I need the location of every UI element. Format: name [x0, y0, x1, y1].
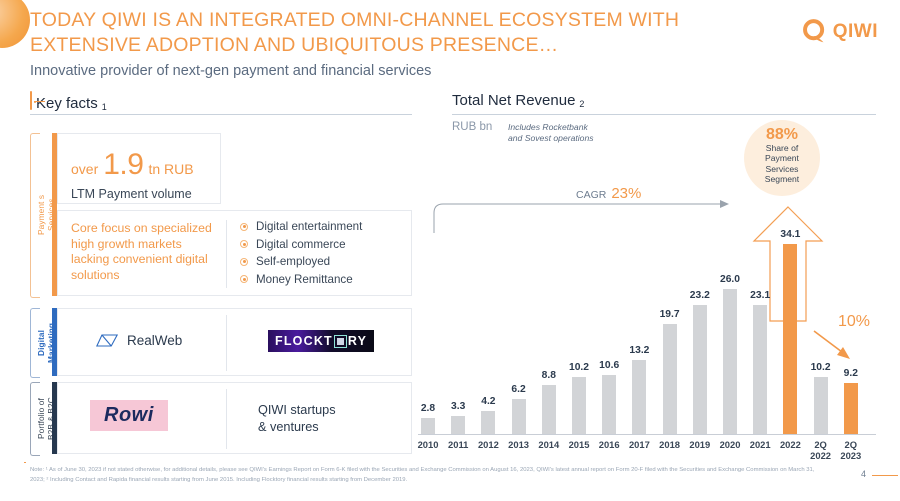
revenue-title: Total Net Revenue [452, 92, 575, 109]
bullet-label: Digital commerce [256, 238, 346, 251]
chart-note-line1: Includes Rocketbank [508, 122, 628, 133]
x-axis-tick-label: 2021 [744, 439, 776, 450]
bar-value-label: 2.8 [413, 403, 443, 414]
stat-unit: tn RUB [148, 161, 193, 177]
bullet-dot-icon [240, 240, 248, 248]
bar-value-label: 23.2 [685, 290, 715, 301]
share-caption: Share of Payment Services Segment [765, 143, 799, 184]
page-subtitle: Innovative provider of next-gen payment … [30, 63, 730, 79]
x-axis-tick-label: 2014 [533, 439, 565, 450]
bar-2017 [632, 360, 646, 434]
flocktory-label-pre: FLOCKT [275, 334, 333, 348]
revenue-rule [452, 114, 876, 115]
list-item: Self-employed [240, 255, 362, 268]
page-title: TODAY QIWI IS AN INTEGRATED OMNI-CHANNEL… [30, 8, 775, 58]
chart-note-line2: and Sovest operations [508, 133, 628, 144]
portfolio-divider [226, 389, 227, 449]
x-axis-tick-label: 2013 [503, 439, 535, 450]
core-focus-divider [226, 220, 227, 288]
chart-note: Includes Rocketbank and Sovest operation… [508, 122, 628, 143]
bar-2Q-2023 [844, 383, 858, 434]
bar-2021 [753, 305, 767, 434]
core-focus-panel: Core focus on specialized high growth ma… [57, 210, 412, 296]
bar-value-label: 26.0 [715, 274, 745, 285]
bar-value-label: 8.8 [534, 370, 564, 381]
realweb-mark-icon [96, 333, 118, 348]
chart-units-label: RUB bn [452, 121, 492, 133]
bar-2011 [451, 416, 465, 434]
bar-2020 [723, 289, 737, 434]
cagr-label: CAGR [576, 189, 606, 201]
bar-2016 [602, 375, 616, 434]
x-axis-tick-label: 2017 [623, 439, 655, 450]
share-percent: 88% [766, 126, 798, 143]
cagr-annotation: CAGR 23% [576, 185, 641, 202]
bar-value-label: 13.2 [624, 345, 654, 356]
page-number-rule [872, 475, 898, 476]
flocktory-label-post: RY [348, 334, 367, 348]
card-icon [30, 92, 32, 110]
bar-2Q-2022 [814, 377, 828, 434]
x-axis-tick-label: 2022 [774, 439, 806, 450]
marketing-divider [226, 315, 227, 371]
qiwi-ventures-line1: QIWI startups [258, 402, 336, 419]
bullet-dot-icon [240, 223, 248, 231]
key-facts-footnote-marker: 1 [102, 102, 107, 112]
bar-value-label: 34.1 [775, 229, 805, 240]
x-axis-tick-label: 2019 [684, 439, 716, 450]
bar-value-label: 4.2 [473, 396, 503, 407]
flocktory-o-icon [334, 335, 347, 348]
key-facts-rule [30, 114, 412, 115]
x-axis-tick-label: 2012 [472, 439, 504, 450]
bullet-dot-icon [240, 275, 248, 283]
x-axis-tick-label: 2020 [714, 439, 746, 450]
key-facts-header: Key facts 1 [30, 92, 107, 112]
x-axis-tick-label: 2011 [442, 439, 474, 450]
realweb-logo: RealWeb [96, 333, 182, 348]
key-facts-title: Key facts [36, 95, 98, 112]
stat-value: 1.9 [103, 148, 143, 182]
revenue-header: Total Net Revenue 2 [452, 92, 584, 109]
footer-tick [24, 462, 26, 463]
bullet-label: Self-employed [256, 255, 330, 268]
bar-value-label: 9.2 [836, 368, 866, 379]
bar-2019 [693, 305, 707, 434]
share-caption-line2: Payment [765, 153, 799, 163]
share-caption-line3: Services [765, 164, 799, 174]
bar-value-label: 3.3 [443, 401, 473, 412]
stat-value-row: over 1.9 tn RUB [71, 148, 194, 182]
marketing-panel: RealWeb FLOCKT RY [57, 308, 412, 376]
qiwi-ventures-line2: & ventures [258, 419, 336, 436]
focus-bullet-list: Digital entertainment Digital commerce S… [240, 220, 362, 290]
core-focus-text: Core focus on specialized high growth ma… [71, 221, 221, 283]
bar-value-label: 10.2 [806, 362, 836, 373]
bar-value-label: 10.6 [594, 360, 624, 371]
corner-arc-decoration [0, 0, 30, 48]
list-item: Money Remittance [240, 273, 362, 286]
qiwi-q-icon [801, 18, 828, 45]
list-item: Digital commerce [240, 238, 362, 251]
bar-value-label: 19.7 [655, 309, 685, 320]
portfolio-panel: Rowi QIWI startups & ventures [57, 382, 412, 454]
stat-panel: over 1.9 tn RUB LTM Payment volume [57, 133, 221, 204]
revenue-footnote-marker: 2 [579, 99, 584, 109]
qiwi-ventures-text: QIWI startups & ventures [258, 402, 336, 436]
chart-x-axis [418, 434, 876, 435]
x-axis-tick-label: 2018 [654, 439, 686, 450]
bullet-dot-icon [240, 258, 248, 266]
x-axis-tick-label: 2015 [563, 439, 595, 450]
x-axis-tick-label: 2Q2022 [805, 439, 837, 461]
list-item: Digital entertainment [240, 220, 362, 233]
group-label-payments: Payment s Services [36, 180, 47, 250]
qiwi-logo: QIWI [801, 18, 878, 45]
bar-2018 [663, 324, 677, 434]
share-caption-line1: Share of [765, 143, 799, 153]
x-axis-tick-label: 2016 [593, 439, 625, 450]
bar-2022 [783, 244, 797, 434]
slide: TODAY QIWI IS AN INTEGRATED OMNI-CHANNEL… [0, 0, 900, 501]
footnote-text: Note: ¹ As of June 30, 2023 if not state… [30, 466, 820, 485]
bar-value-label: 23.1 [745, 290, 775, 301]
cagr-arrow-icon [432, 198, 742, 234]
cagr-value: 23% [611, 185, 641, 202]
bar-2012 [481, 411, 495, 434]
bullet-label: Money Remittance [256, 273, 353, 286]
x-axis-tick-label: 2010 [412, 439, 444, 450]
qiwi-wordmark: QIWI [833, 21, 878, 43]
stat-caption: LTM Payment volume [71, 187, 192, 201]
page-number: 4 [861, 469, 866, 479]
bar-2014 [542, 385, 556, 434]
bullet-label: Digital entertainment [256, 220, 362, 233]
bar-2010 [421, 418, 435, 434]
bar-2015 [572, 377, 586, 434]
flocktory-logo: FLOCKT RY [268, 330, 374, 352]
bar-2013 [512, 399, 526, 434]
x-axis-tick-label: 2Q2023 [835, 439, 867, 461]
share-badge: 88% Share of Payment Services Segment [744, 120, 820, 196]
rowi-logo: Rowi [90, 400, 168, 431]
realweb-label: RealWeb [127, 333, 182, 348]
share-caption-line4: Segment [765, 174, 799, 184]
growth-down-arrow-icon [812, 328, 858, 366]
bar-value-label: 10.2 [564, 362, 594, 373]
bar-value-label: 6.2 [504, 384, 534, 395]
stat-prefix: over [71, 161, 98, 177]
